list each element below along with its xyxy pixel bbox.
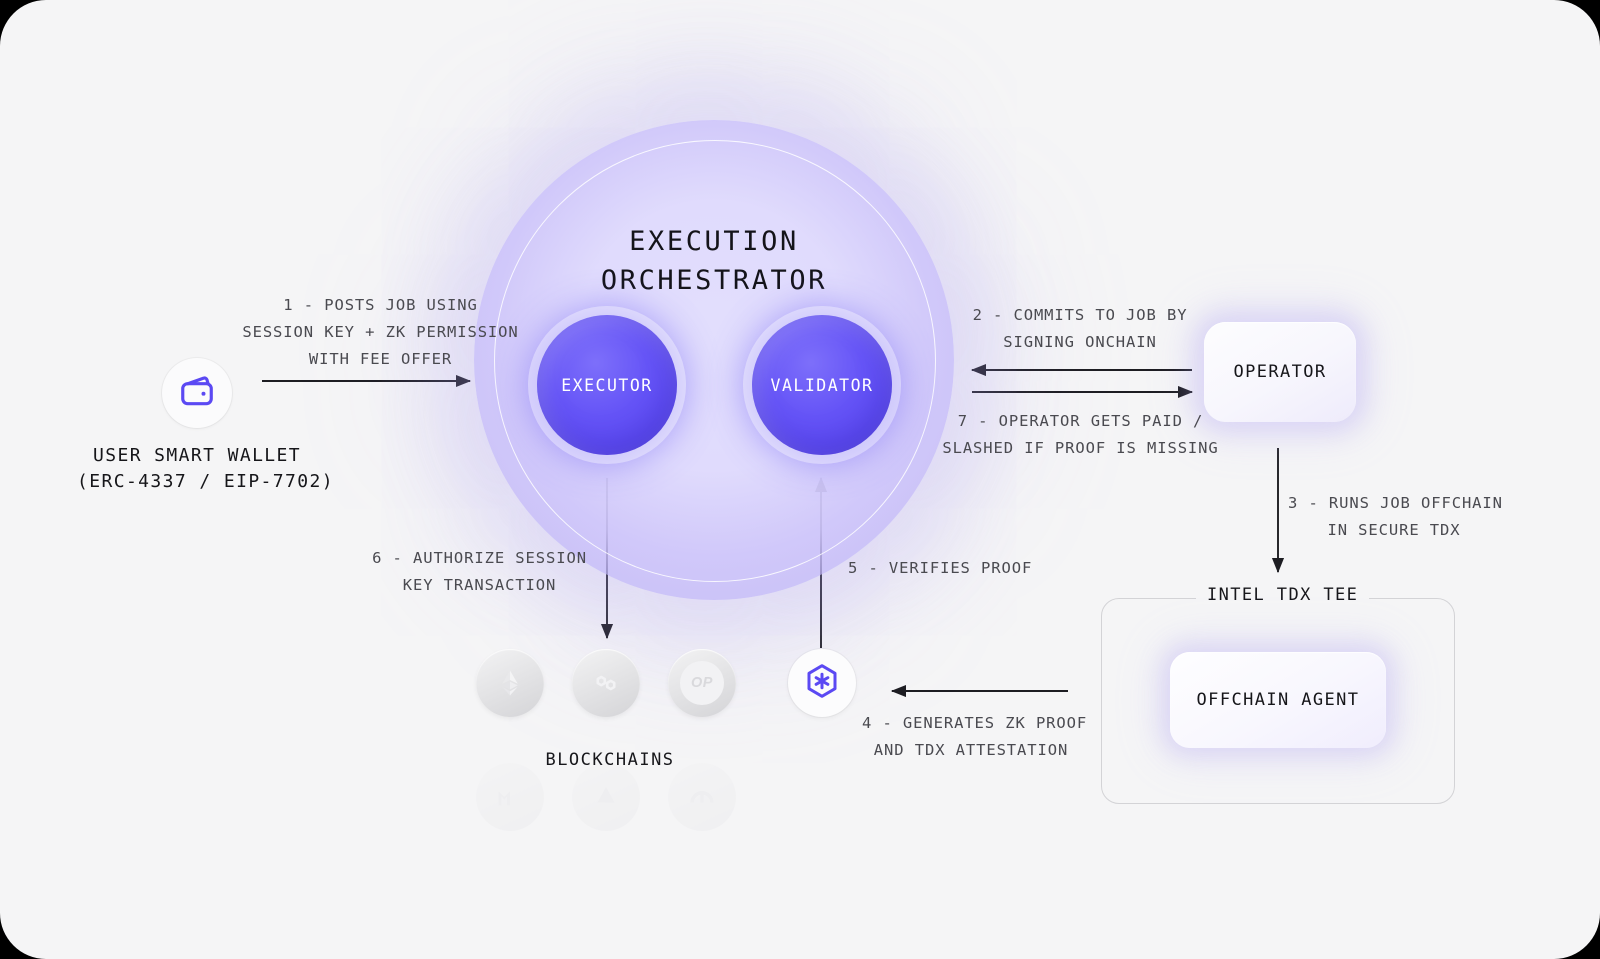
node-offchain-agent-label: OFFCHAIN AGENT — [1197, 690, 1360, 710]
step-label-2: 2 - COMMITS TO JOB BY SIGNING ONCHAIN — [960, 302, 1200, 356]
optimism-icon-text: OP — [691, 675, 713, 691]
orchestrator-title: EXECUTIONORCHESTRATOR — [474, 222, 954, 300]
node-validator[interactable]: VALIDATOR — [752, 315, 892, 455]
blockchains-label: BLOCKCHAINS — [476, 750, 744, 770]
blockchain-ghost-icons — [476, 763, 736, 831]
polygon-icon[interactable] — [572, 649, 640, 717]
zk-proof-hexagon-icon — [802, 661, 842, 705]
intel-tdx-tee-legend: INTEL TDX TEE — [1196, 585, 1369, 605]
wallet-icon — [178, 372, 216, 414]
step-label-3: 3 - RUNS JOB OFFCHAIN IN SECURE TDX — [1288, 490, 1500, 544]
step-label-1: 1 - POSTS JOB USING SESSION KEY + ZK PER… — [218, 292, 543, 373]
node-executor-label: EXECUTOR — [561, 376, 652, 395]
step-label-5: 5 - VERIFIES PROOF — [848, 555, 1048, 582]
diagram-canvas: EXECUTIONORCHESTRATOR EXECUTOR VALIDATOR… — [0, 0, 1600, 959]
node-executor[interactable]: EXECUTOR — [537, 315, 677, 455]
user-smart-wallet-label: USER SMART WALLET(ERC-4337 / EIP-7702) — [77, 443, 317, 495]
step-label-6: 6 - AUTHORIZE SESSION KEY TRANSACTION — [372, 545, 587, 599]
blockchain-icons-row: OP — [476, 649, 736, 717]
optimism-icon[interactable]: OP — [668, 649, 736, 717]
node-validator-label: VALIDATOR — [771, 376, 874, 395]
step-label-7: 7 - OPERATOR GETS PAID / SLASHED IF PROO… — [933, 408, 1228, 462]
orchestrator-title-line1: EXECUTION — [629, 226, 799, 257]
orchestrator-title-line2: ORCHESTRATOR — [601, 265, 827, 296]
node-offchain-agent[interactable]: OFFCHAIN AGENT — [1170, 652, 1386, 748]
ghost-chain-icon-2 — [572, 763, 640, 831]
wallet-label-line1: USER SMART WALLET — [93, 445, 301, 466]
ghost-chain-icon-1 — [476, 763, 544, 831]
step-label-4: 4 - GENERATES ZK PROOF AND TDX ATTESTATI… — [862, 710, 1080, 764]
wallet-label-line2: (ERC-4337 / EIP-7702) — [77, 471, 334, 492]
node-operator-label: OPERATOR — [1233, 362, 1326, 382]
ghost-chain-icon-3 — [668, 763, 736, 831]
ethereum-icon[interactable] — [476, 649, 544, 717]
zk-proof-hexagon-badge[interactable] — [788, 649, 856, 717]
node-operator[interactable]: OPERATOR — [1204, 322, 1356, 422]
